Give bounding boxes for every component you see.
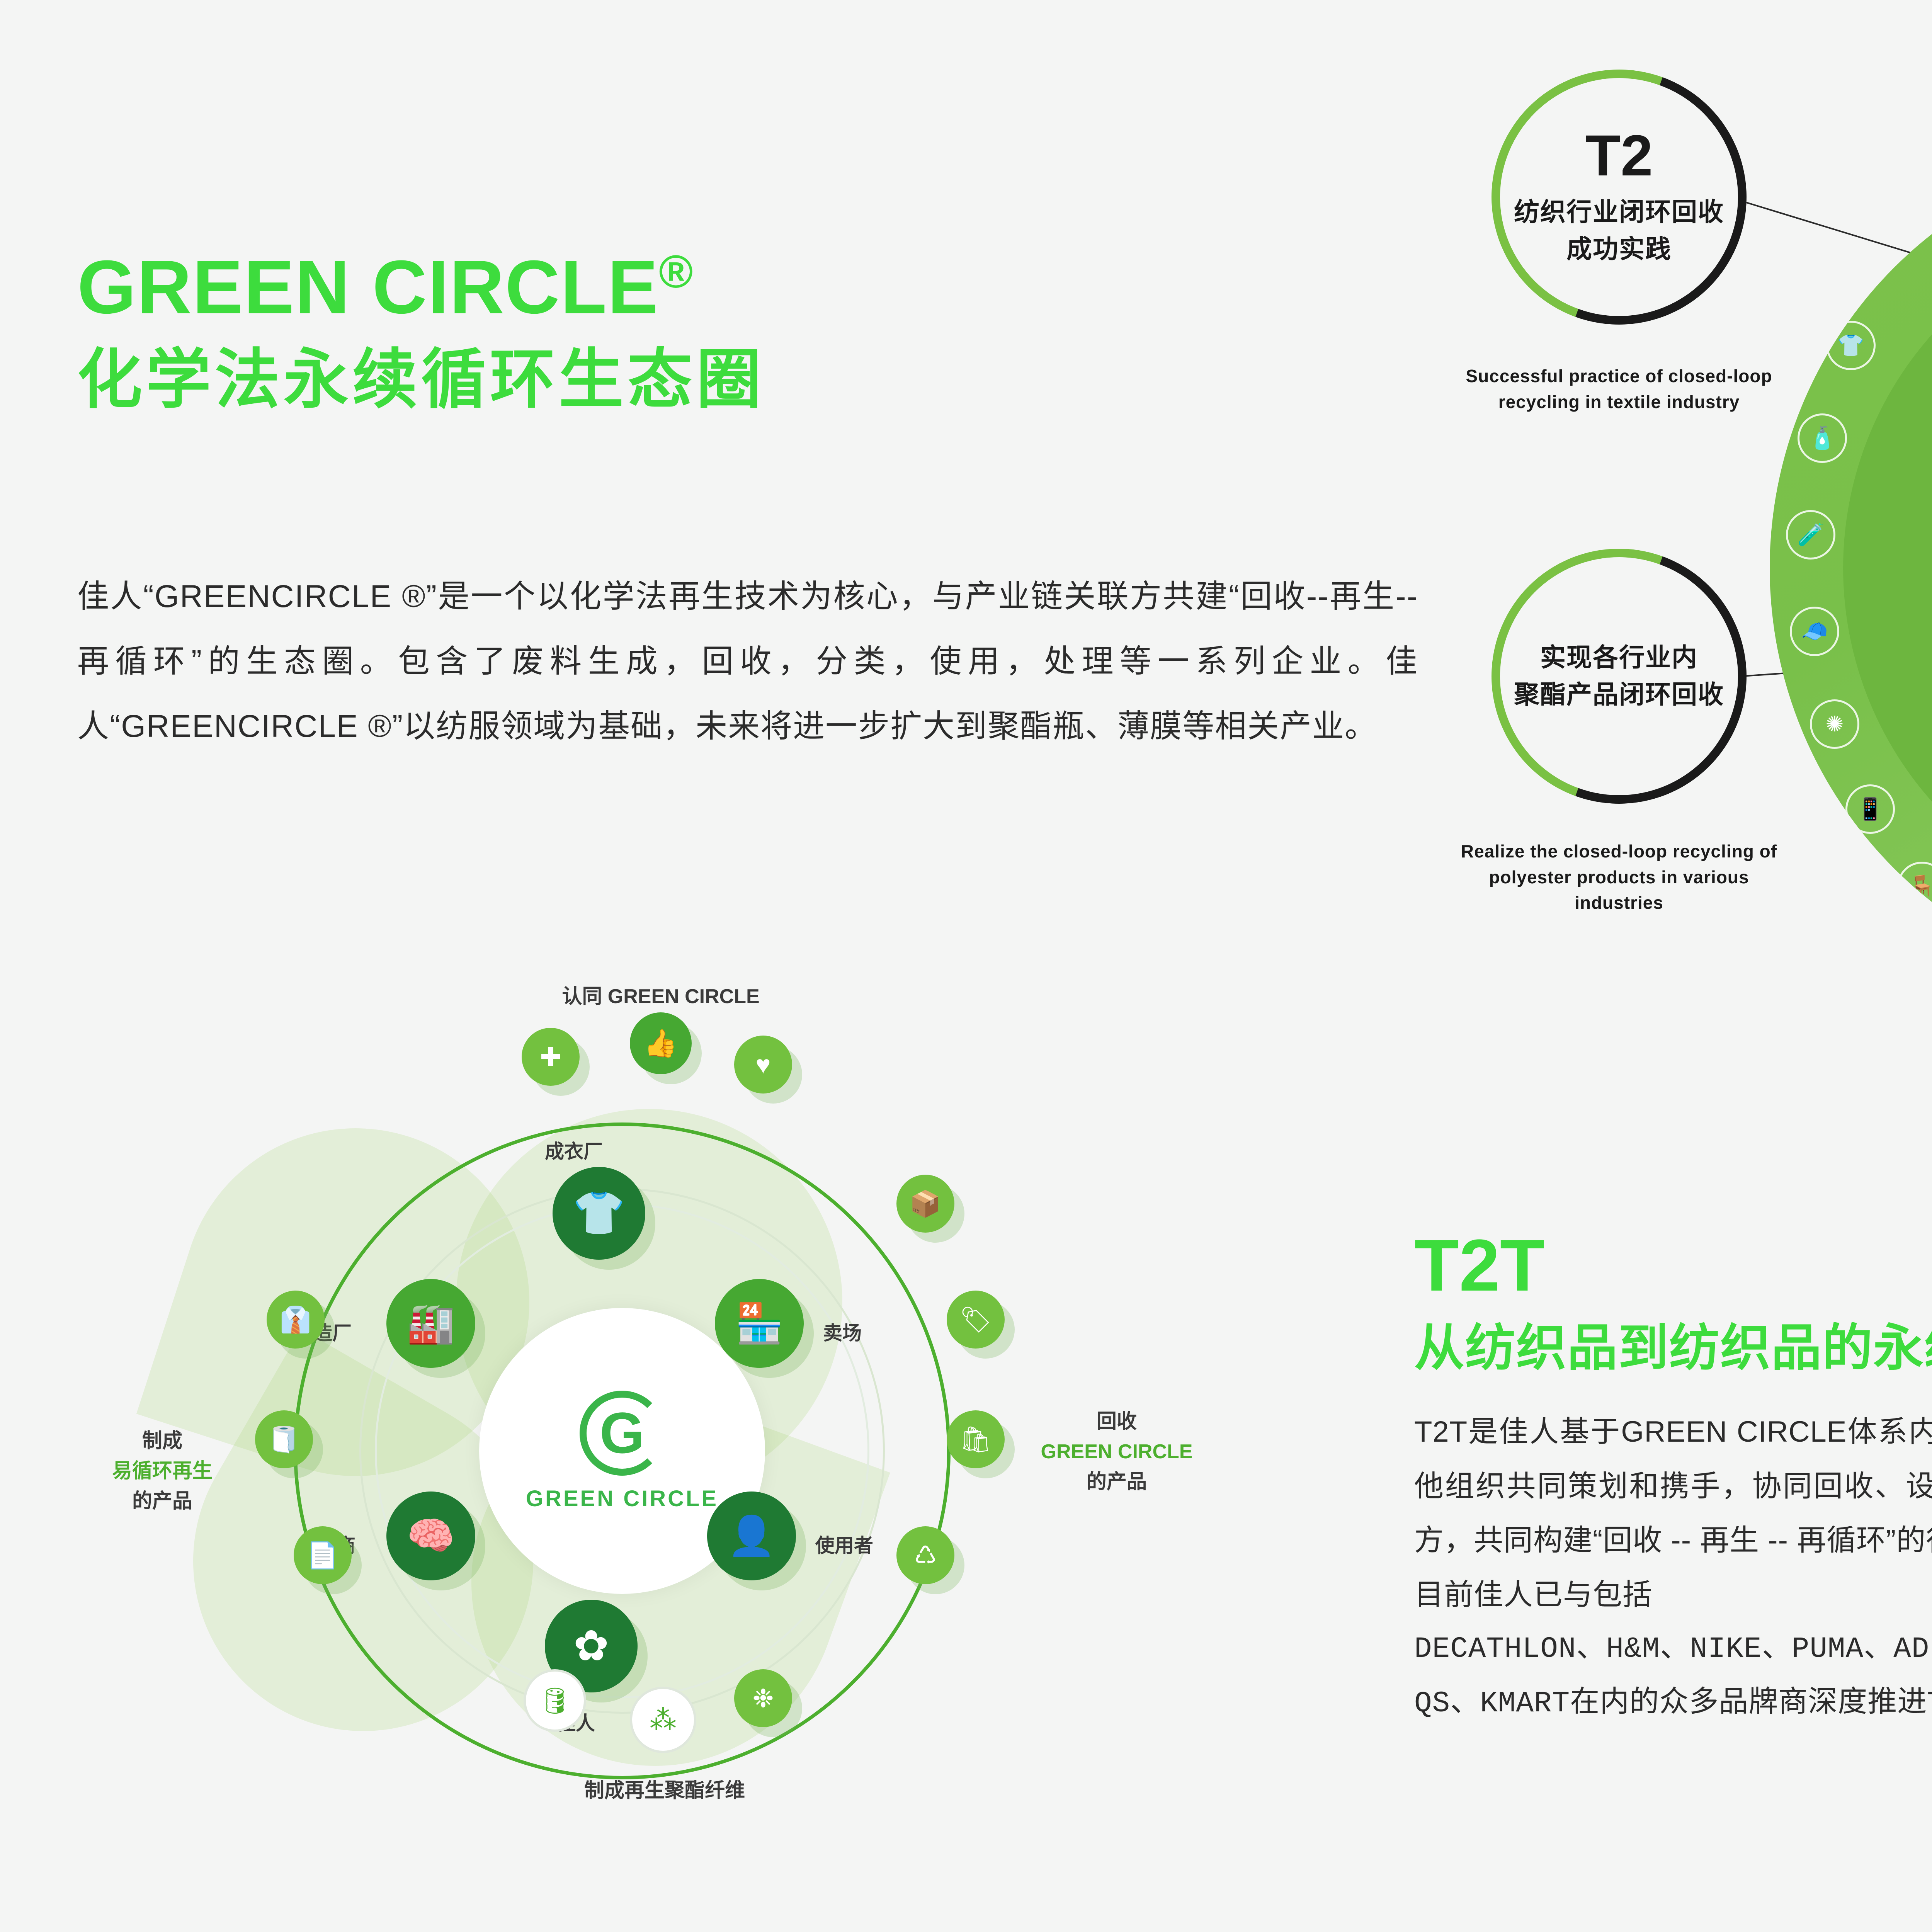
- callout-2-ring: [1449, 507, 1788, 845]
- node-store: 🏪: [715, 1279, 804, 1368]
- wheel-caption-right-line2: GREEN CIRCLE: [993, 1437, 1240, 1467]
- t2t-paragraph-2: 目前佳人已与包括: [1414, 1568, 1932, 1622]
- intro-paragraph: 佳人“GREENCIRCLE ®”是一个以化学法再生技术为核心，与产业链关联方共…: [77, 564, 1418, 759]
- page-title-en-text: GREEN CIRCLE: [77, 245, 659, 329]
- wheel-caption-top: 认同 GREEN CIRCLE: [502, 981, 819, 1012]
- callout-closed-loop-polyester: 实现各行业内 聚酯产品闭环回收: [1492, 549, 1747, 804]
- eco-big-circle: 👕 🧴 🧪 🧢 ✺ 📱 🪑 永续循环系统 GREEN CIRCLE 佳人化学法再…: [1770, 143, 1932, 993]
- green-circle-wheel-diagram: G GREEN CIRCLE 👕 成衣厂 🏪 卖场 👤 使用者 ✿ 佳人 🧠 品…: [54, 1012, 1337, 1932]
- recycle-bin-icon: ♺: [896, 1526, 954, 1584]
- callout-1-en-line1: Successful practice of closed-loop: [1445, 363, 1793, 389]
- callout-2-en-line1: Realize the closed-loop recycling of: [1445, 838, 1793, 864]
- drum-icon: 🛢: [524, 1669, 586, 1732]
- chip-icon: ⁂: [630, 1687, 696, 1753]
- callout-1-english: Successful practice of closed-loop recyc…: [1445, 363, 1793, 415]
- wheel-caption-left-line3: 的产品: [70, 1486, 255, 1516]
- node-label-garment-factory: 成衣厂: [545, 1136, 603, 1164]
- shirt-tag-icon: 🏷: [947, 1291, 1005, 1349]
- page-title-en: GREEN CIRCLE®: [77, 247, 1468, 327]
- bottle-icon: 🧴: [1798, 413, 1847, 463]
- eco-circle-diagram: 👕 🧴 🧪 🧢 ✺ 📱 🪑 永续循环系统 GREEN CIRCLE 佳人化学法再…: [1476, 31, 1932, 1074]
- t-shirt-icon: 👕: [1826, 321, 1876, 370]
- node-garment-factory: 👕: [553, 1167, 645, 1260]
- wheel-caption-right-line1: 回收: [993, 1406, 1240, 1437]
- phone-icon: 📱: [1845, 784, 1895, 834]
- t2t-subtitle: 从纺织品到纺织品的永续循环: [1414, 1318, 1932, 1378]
- flake-icon: ❉: [734, 1669, 792, 1727]
- hero-heading-block: GREEN CIRCLE® 化学法永续循环生态圈: [77, 247, 1468, 417]
- callout-2-en-line2: polyester products in various industries: [1445, 864, 1793, 916]
- detergent-icon: 🧪: [1786, 510, 1835, 560]
- heart-icon: ♥: [734, 1036, 792, 1094]
- document-icon: 📄: [294, 1526, 352, 1584]
- fabric-roll-icon: 🧻: [255, 1410, 313, 1468]
- cap-icon: 🧢: [1790, 607, 1839, 656]
- callout-1-ring: [1449, 27, 1788, 366]
- wheel-caption-right-line3: 的产品: [993, 1467, 1240, 1497]
- callout-closed-loop-textile: T2 纺织行业闭环回收 成功实践: [1492, 70, 1747, 325]
- green-circle-logo-mark: G: [580, 1391, 665, 1476]
- wheel-caption-left: 制成 易循环再生 的产品: [70, 1426, 255, 1516]
- filter-icon: ✺: [1810, 699, 1859, 749]
- t2t-title: T2T: [1414, 1229, 1932, 1302]
- shirt-hanger-icon: 👔: [267, 1291, 325, 1349]
- callout-2-english: Realize the closed-loop recycling of pol…: [1445, 838, 1793, 916]
- t2t-body: T2T是佳人基于GREEN CIRCLE体系内的特定项目，该项目由佳人与品牌或其…: [1414, 1405, 1932, 1731]
- node-user: 👤: [707, 1492, 796, 1580]
- box-open-icon: 📦: [896, 1175, 954, 1233]
- thumbs-up-icon: 👍: [630, 1012, 692, 1074]
- poster-root: GREEN CIRCLE® 化学法永续循环生态圈 佳人“GREENCIRCLE …: [0, 0, 1932, 1932]
- eco-ring-icon-group: 👕 🧴 🧪 🧢 ✺ 📱 🪑: [1770, 143, 1932, 993]
- node-brand-owner: 🧠: [386, 1492, 475, 1580]
- wheel-caption-bottom: 制成再生聚酯纤维: [510, 1776, 819, 1806]
- t2t-paragraph-1: T2T是佳人基于GREEN CIRCLE体系内的特定项目，该项目由佳人与品牌或其…: [1414, 1405, 1932, 1568]
- node-label-store: 卖场: [823, 1318, 862, 1345]
- node-weaving-mill: 🏭: [386, 1279, 475, 1368]
- node-label-user: 使用者: [815, 1530, 873, 1558]
- chair-icon: 🪑: [1897, 862, 1932, 911]
- t2t-section: T2T 从纺织品到纺织品的永续循环 T2T是佳人基于GREEN CIRCLE体系…: [1414, 1229, 1932, 1731]
- green-circle-logo-text: GREEN CIRCLE: [526, 1486, 718, 1512]
- wheel-caption-right: 回收 GREEN CIRCLE 的产品: [993, 1406, 1240, 1497]
- wheel-caption-left-line1: 制成: [70, 1426, 255, 1456]
- callout-1-en-line2: recycling in textile industry: [1445, 389, 1793, 415]
- badge-icon: ✚: [522, 1028, 580, 1086]
- page-title-cn: 化学法永续循环生态圈: [77, 342, 1468, 417]
- t2t-brand-list-line1: DECATHLON、H&M、NIKE、PUMA、ADIDAS、INDITEX、: [1414, 1622, 1932, 1677]
- t2t-brand-list-line2: QS、KMART在内的众多品牌商深度推进T2T项目合作。: [1414, 1677, 1932, 1731]
- wheel-caption-left-line2: 易循环再生: [70, 1456, 255, 1486]
- registered-mark: ®: [659, 246, 694, 298]
